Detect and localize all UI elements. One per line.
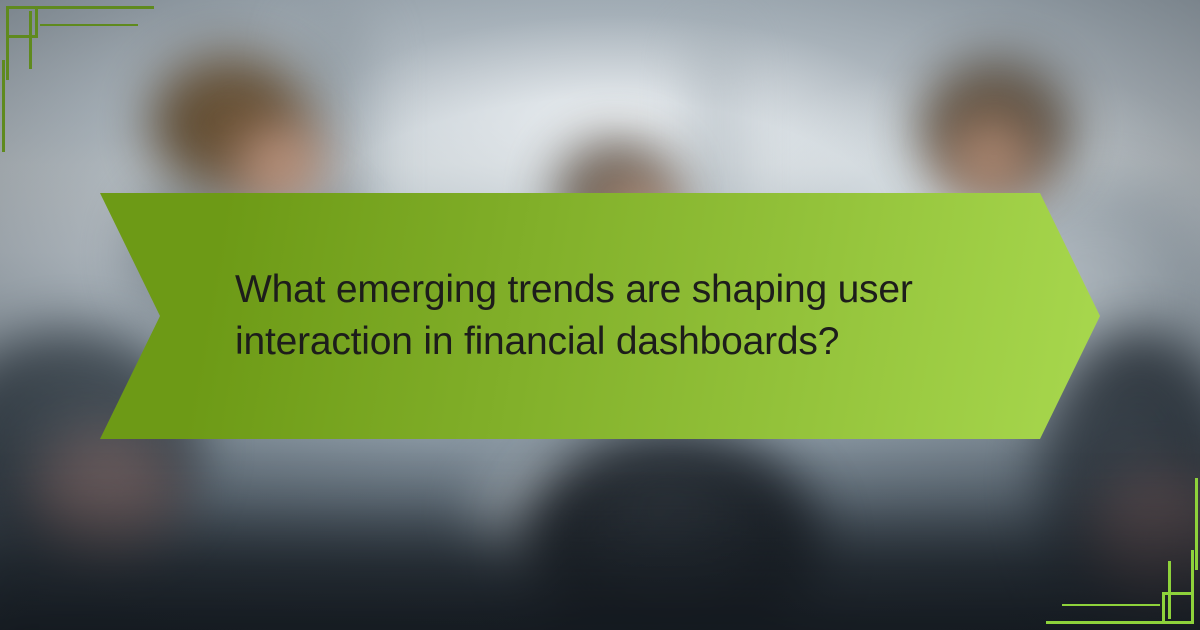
- question-banner: What emerging trends are shaping user in…: [100, 193, 1100, 439]
- question-text: What emerging trends are shaping user in…: [100, 264, 1100, 369]
- corner-line-vertical: [1168, 561, 1171, 619]
- corner-line-bottom-inner: [1062, 604, 1160, 606]
- corner-square-icon: [1162, 592, 1194, 624]
- corner-line-tail: [1195, 478, 1198, 570]
- corner-line-top: [32, 6, 154, 9]
- screenshot-canvas: What emerging trends are shaping user in…: [0, 0, 1200, 630]
- corner-line-right: [1191, 550, 1194, 598]
- corner-ornament-top-left: [0, 0, 160, 160]
- corner-line-vertical: [29, 11, 32, 69]
- corner-line-left: [6, 32, 9, 80]
- corner-ornament-bottom-right: [1040, 470, 1200, 630]
- corner-line-top-inner: [40, 24, 138, 26]
- corner-square-icon: [6, 6, 38, 38]
- corner-line-bottom: [1046, 621, 1168, 624]
- corner-line-tail: [2, 60, 5, 152]
